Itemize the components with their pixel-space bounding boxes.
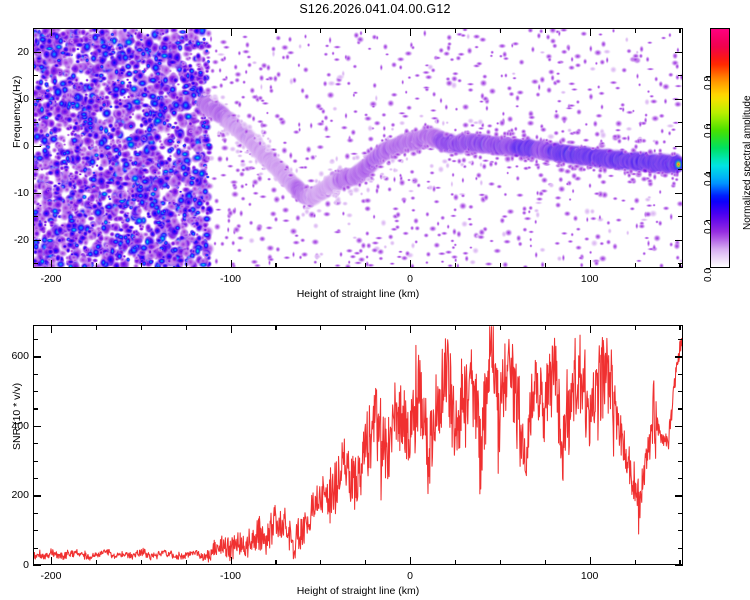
xaxis-tick-label: -100 [220,273,241,285]
axis-tick [678,548,683,549]
axis-tick [33,263,38,264]
axis-tick [678,443,683,444]
axis-tick [33,169,38,170]
axis-tick [678,530,683,531]
axis-tick [678,478,683,479]
axis-tick-major [33,193,41,194]
xaxis-tick-label: -200 [40,570,61,582]
axis-tick [545,325,546,330]
axis-tick [320,560,321,565]
xaxis-tick-label: 100 [581,570,599,582]
axis-tick [275,263,276,268]
xaxis-tick-label: 0 [407,570,413,582]
axis-tick [500,28,501,33]
axis-tick [678,339,683,340]
axis-tick-major [410,28,411,36]
axis-tick [678,28,683,29]
axis-tick [33,216,38,217]
axis-tick-major [675,495,683,496]
axis-tick [33,548,38,549]
axis-tick-major [33,565,41,566]
axis-tick-major [33,146,41,147]
axis-tick [141,325,142,330]
axis-tick-major [590,325,591,333]
snr-canvas [34,326,682,564]
axis-tick-major [51,325,52,333]
spectrogram-panel [33,28,683,268]
colorbar-label: Normalized spectral amplitude [742,95,750,230]
axis-tick [96,263,97,268]
axis-tick [33,478,38,479]
axis-tick [678,461,683,462]
axis-tick-major [33,426,41,427]
axis-tick [33,374,38,375]
axis-tick-major [675,146,683,147]
axis-tick [33,513,38,514]
axis-tick-major [33,495,41,496]
axis-tick [275,325,276,330]
axis-tick-major [231,325,232,333]
axis-tick [545,560,546,565]
xaxis-tick-label: -200 [40,273,61,285]
axis-tick [320,28,321,33]
axis-tick [320,263,321,268]
axis-tick [678,169,683,170]
axis-tick-major [51,28,52,36]
colorbar-tick-label: 0.4 [703,172,714,186]
axis-tick [365,28,366,33]
axis-tick [500,263,501,268]
axis-tick [141,263,142,268]
axis-tick [275,28,276,33]
axis-tick [365,325,366,330]
axis-tick [678,408,683,409]
axis-tick-major [675,565,683,566]
axis-tick [500,560,501,565]
yaxis-tick-label: 200 [0,489,29,501]
snr-yaxis-label: SNR (10 * v/v) [11,383,23,450]
axis-tick [141,560,142,565]
axis-tick-major [231,260,232,268]
axis-tick [96,560,97,565]
axis-tick-major [33,356,41,357]
axis-tick [33,75,38,76]
snr-line-plot [34,326,682,564]
axis-tick-major [410,260,411,268]
axis-tick [186,263,187,268]
axis-tick [455,28,456,33]
axis-tick-major [51,260,52,268]
axis-tick-major [590,28,591,36]
spectrogram-xaxis-label: Height of straight line (km) [297,288,420,300]
axis-tick [141,28,142,33]
axis-tick [33,461,38,462]
axis-tick [365,263,366,268]
yaxis-tick-label: 0 [0,559,29,571]
axis-tick [545,263,546,268]
axis-tick [365,560,366,565]
axis-tick [186,325,187,330]
axis-tick [455,325,456,330]
axis-tick-major [675,193,683,194]
axis-tick [635,560,636,565]
axis-tick [33,530,38,531]
spectrogram-canvas [34,29,682,267]
axis-tick [186,28,187,33]
axis-tick [33,443,38,444]
axis-tick [545,28,546,33]
axis-tick [678,75,683,76]
axis-tick [635,263,636,268]
colorbar-tick-label: 0.0 [703,268,714,282]
axis-tick-major [675,240,683,241]
axis-tick-major [675,426,683,427]
axis-tick-major [410,557,411,565]
axis-tick-major [675,52,683,53]
axis-tick-major [33,240,41,241]
axis-tick [33,408,38,409]
axis-tick-major [675,356,683,357]
colorbar-tick-label: 0.6 [703,124,714,138]
yaxis-tick-label: -10 [0,187,29,199]
axis-tick [678,122,683,123]
axis-tick [455,560,456,565]
axis-tick-major [231,557,232,565]
yaxis-tick-label: 600 [0,350,29,362]
spectrogram-yaxis-label: Frequency (Hz) [11,76,23,148]
axis-tick [635,28,636,33]
axis-tick-major [675,99,683,100]
axis-tick-major [231,28,232,36]
axis-tick-major [51,557,52,565]
axis-tick [96,28,97,33]
axis-tick [500,325,501,330]
axis-tick [678,391,683,392]
colorbar-tick-label: 0.2 [703,220,714,234]
axis-tick-major [590,557,591,565]
axis-tick [33,391,38,392]
axis-tick [320,325,321,330]
axis-tick-major [33,52,41,53]
axis-tick [455,263,456,268]
axis-tick [678,374,683,375]
axis-tick-major [590,260,591,268]
axis-tick [96,325,97,330]
axis-tick-major [33,99,41,100]
yaxis-tick-label: 20 [0,46,29,58]
snr-panel [33,325,683,565]
axis-tick [678,263,683,264]
axis-tick [679,325,680,330]
axis-tick [33,122,38,123]
axis-tick [186,560,187,565]
axis-tick-major [410,325,411,333]
snr-xaxis-label: Height of straight line (km) [297,585,420,597]
colorbar-tick-label: 0.8 [703,76,714,90]
axis-tick [33,28,38,29]
xaxis-tick-label: 0 [407,273,413,285]
axis-tick [678,513,683,514]
yaxis-tick-label: -20 [0,234,29,246]
page-title: S126.2026.041.04.00.G12 [0,2,750,16]
axis-tick [678,216,683,217]
axis-tick [33,339,38,340]
axis-tick [635,325,636,330]
spectrogram-image [34,29,682,267]
xaxis-tick-label: 100 [581,273,599,285]
axis-tick [275,560,276,565]
xaxis-tick-label: -100 [220,570,241,582]
